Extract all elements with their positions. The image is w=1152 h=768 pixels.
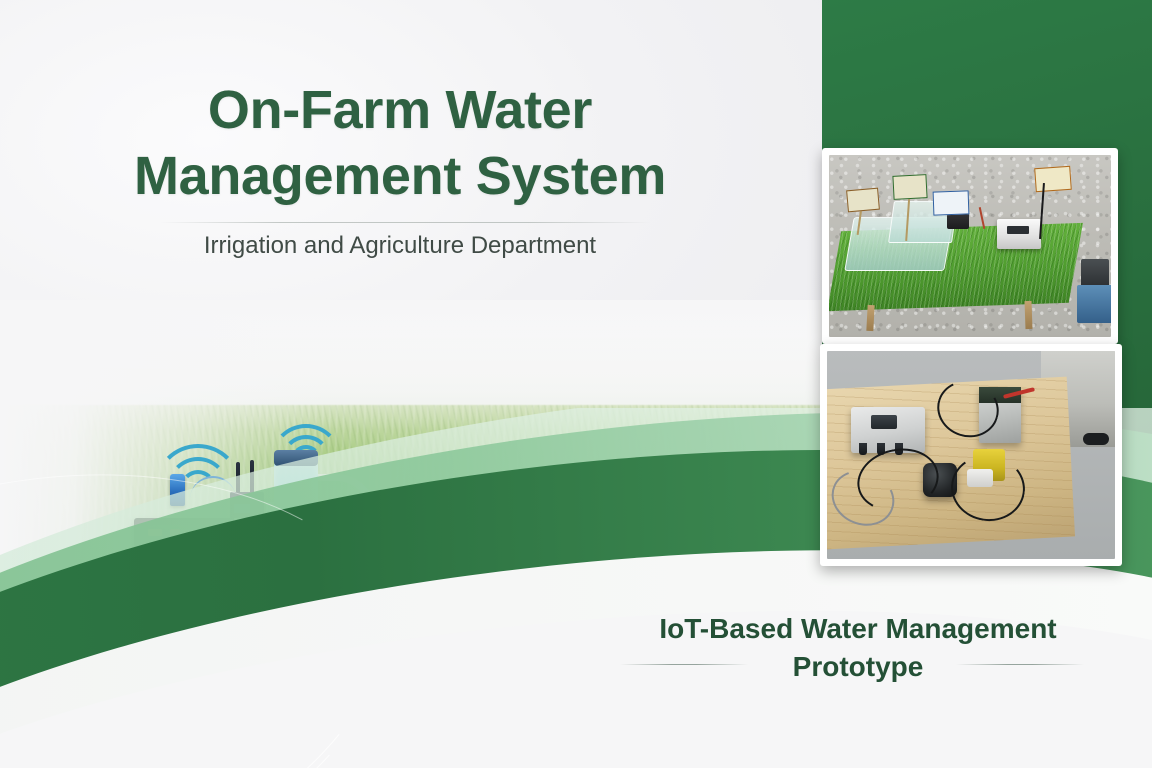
caption-line-2: Prototype bbox=[588, 648, 1128, 686]
title-divider bbox=[160, 222, 650, 223]
title-line-2: Management System bbox=[60, 144, 740, 210]
water-sensor-bottle bbox=[274, 462, 318, 548]
pcb-chip bbox=[216, 556, 236, 563]
pcb-chip bbox=[206, 582, 220, 589]
photo-spray-haze bbox=[460, 700, 780, 768]
pcb-chip bbox=[150, 582, 172, 589]
signage-card bbox=[933, 190, 970, 215]
antenna-rod bbox=[250, 460, 254, 494]
caption-rule-left bbox=[620, 664, 748, 665]
signage-card bbox=[846, 188, 880, 213]
pcb-chip bbox=[148, 529, 162, 536]
photo-inner bbox=[829, 155, 1111, 337]
pcb-chip bbox=[198, 529, 214, 536]
outdoor-demo-table-photo bbox=[822, 148, 1118, 344]
table-leg bbox=[866, 305, 874, 331]
brass-coupling bbox=[376, 544, 424, 566]
page-subtitle: Irrigation and Agriculture Department bbox=[60, 232, 740, 260]
page-title: On-Farm Water Management System bbox=[60, 78, 740, 210]
sensor-bottle-cap bbox=[274, 450, 318, 466]
brass-fitting bbox=[332, 504, 362, 538]
blue-storage-bin bbox=[1077, 285, 1111, 323]
poster-canvas: On-Farm Water Management System Irrigati… bbox=[0, 0, 1152, 768]
title-line-1: On-Farm Water bbox=[60, 78, 740, 144]
antenna-rod bbox=[236, 462, 240, 496]
blue-capacitor bbox=[170, 474, 185, 506]
signage-card bbox=[892, 174, 927, 200]
module-chip bbox=[234, 518, 254, 525]
control-enclosure bbox=[851, 407, 925, 453]
solenoid-valve bbox=[326, 538, 382, 572]
caption-line-1: IoT-Based Water Management bbox=[588, 610, 1128, 648]
pcb-chip bbox=[170, 529, 180, 536]
pcb-chip bbox=[152, 556, 170, 563]
shoe bbox=[1083, 433, 1109, 445]
module-chip bbox=[234, 504, 250, 513]
pcb-board-bottom bbox=[140, 578, 258, 595]
poster-caption: IoT-Based Water Management Prototype bbox=[588, 610, 1128, 685]
signage-card bbox=[1034, 166, 1072, 192]
pcb-chip bbox=[182, 582, 194, 589]
pcb-chip bbox=[184, 556, 198, 563]
caption-rule-right bbox=[956, 664, 1084, 665]
workbench-wiring-photo bbox=[820, 344, 1122, 566]
control-enclosure bbox=[997, 219, 1041, 249]
pcb-board-middle bbox=[140, 552, 258, 569]
radio-module-board bbox=[230, 492, 264, 540]
iot-device-cluster bbox=[118, 440, 458, 670]
table-leg bbox=[1025, 301, 1033, 329]
pcb-chip bbox=[230, 582, 246, 589]
photo-inner bbox=[827, 351, 1115, 559]
cable-gland bbox=[859, 443, 867, 455]
